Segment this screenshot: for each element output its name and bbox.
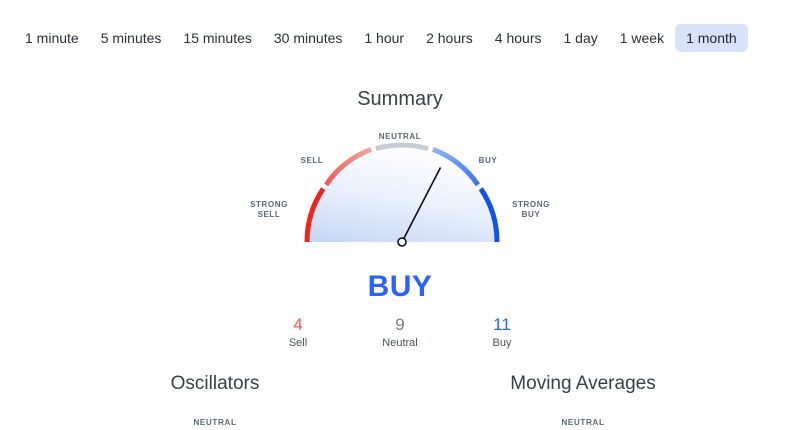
gauge-label-sell: SELL <box>282 156 342 166</box>
gauge-pivot <box>398 238 406 246</box>
tab-30-minutes[interactable]: 30 minutes <box>263 24 353 52</box>
tab-1-minute[interactable]: 1 minute <box>14 24 90 52</box>
gauge-label-neutral: NEUTRAL <box>360 132 440 142</box>
summary-counts: 4 Sell 9 Neutral 11 Buy <box>0 314 800 351</box>
interval-tab-bar[interactable]: 1 minute 5 minutes 15 minutes 30 minutes… <box>14 24 748 52</box>
panel-moving-averages: Moving Averages NEUTRAL <box>433 372 733 427</box>
tab-1-month[interactable]: 1 month <box>675 24 748 52</box>
gauge-label-strong-sell: STRONG SELL <box>240 200 298 220</box>
panel-oscillators-title: Oscillators <box>65 372 365 396</box>
panel-oscillators-status: NEUTRAL <box>65 418 365 427</box>
panel-moving-averages-title: Moving Averages <box>433 372 733 396</box>
count-buy-value: 11 <box>473 314 531 336</box>
tab-1-day[interactable]: 1 day <box>552 24 608 52</box>
count-sell: 4 Sell <box>269 314 327 351</box>
tab-15-minutes[interactable]: 15 minutes <box>172 24 262 52</box>
tab-2-hours[interactable]: 2 hours <box>415 24 484 52</box>
tab-1-hour[interactable]: 1 hour <box>353 24 415 52</box>
page-title: Summary <box>0 88 800 111</box>
count-buy-label: Buy <box>473 336 531 351</box>
panel-moving-averages-status: NEUTRAL <box>433 418 733 427</box>
count-buy: 11 Buy <box>473 314 531 351</box>
count-sell-label: Sell <box>269 336 327 351</box>
tab-4-hours[interactable]: 4 hours <box>484 24 553 52</box>
gauge-label-strong-buy: STRONG BUY <box>502 200 560 220</box>
tab-5-minutes[interactable]: 5 minutes <box>90 24 173 52</box>
count-neutral-value: 9 <box>371 314 429 336</box>
count-neutral-label: Neutral <box>371 336 429 351</box>
count-sell-value: 4 <box>269 314 327 336</box>
gauge-label-buy: BUY <box>458 156 518 166</box>
summary-verdict: BUY <box>0 270 800 304</box>
count-neutral: 9 Neutral <box>371 314 429 351</box>
panel-oscillators: Oscillators NEUTRAL <box>65 372 365 427</box>
tab-1-week[interactable]: 1 week <box>609 24 675 52</box>
summary-gauge: NEUTRAL SELL BUY STRONG SELL STRONG BUY <box>240 120 560 255</box>
